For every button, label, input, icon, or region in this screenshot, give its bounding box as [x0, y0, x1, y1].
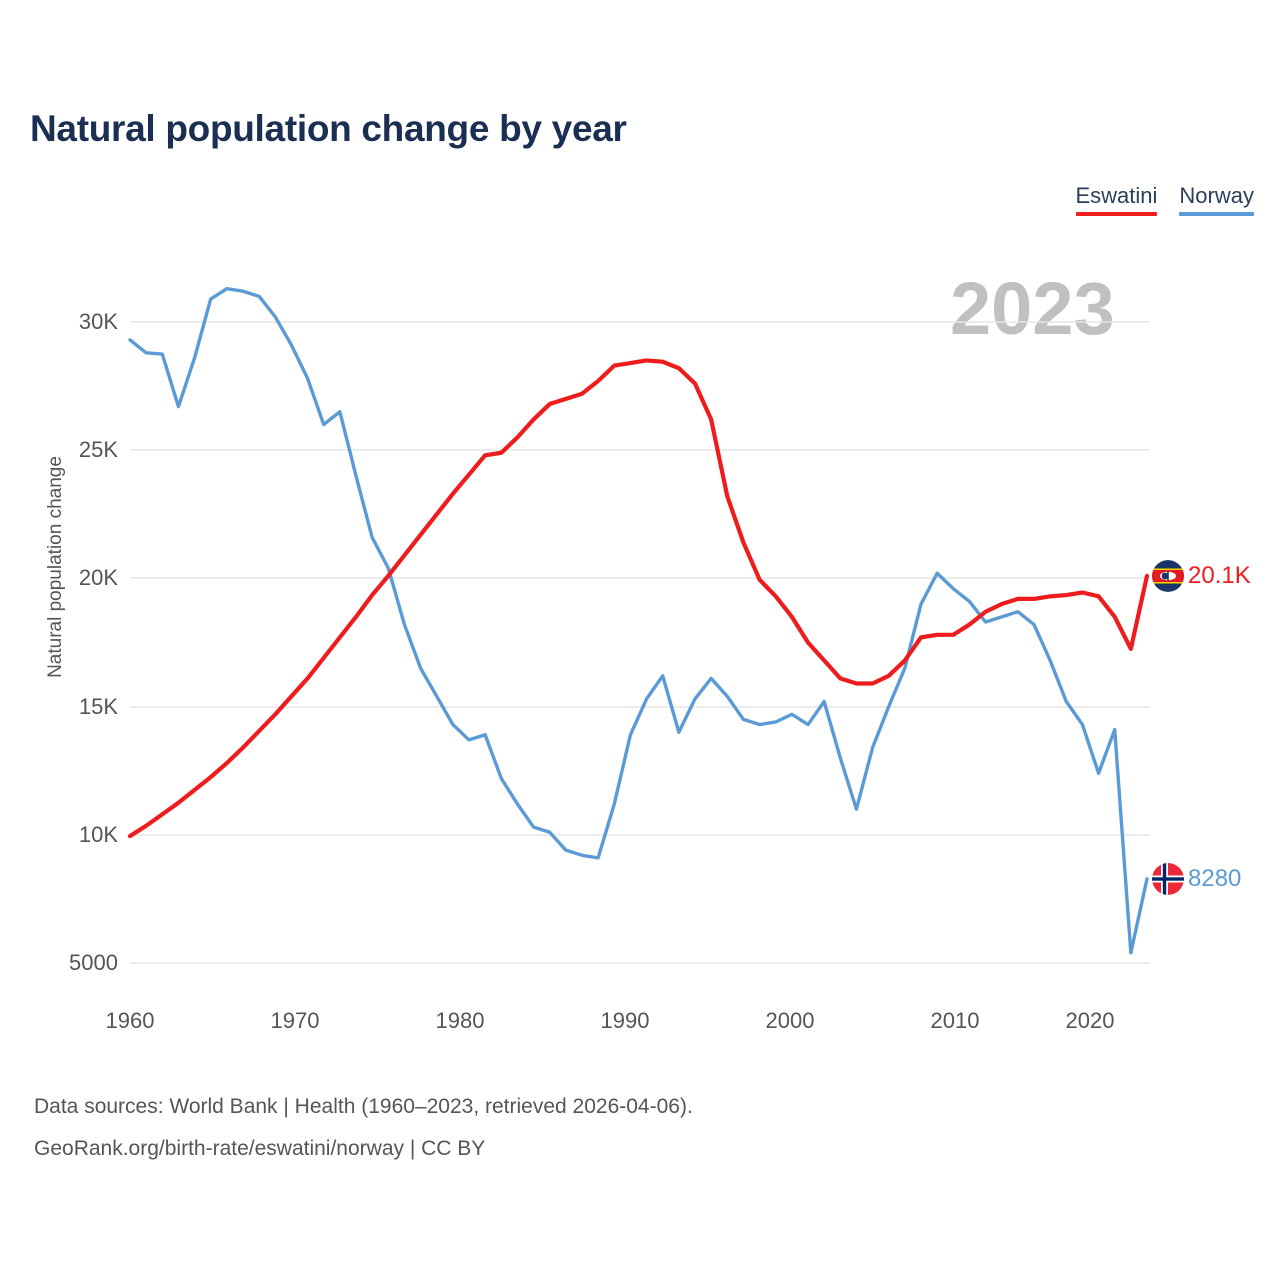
- series-line-norway: [130, 289, 1147, 953]
- eswatini-flag-icon: [1152, 560, 1184, 592]
- eswatini-endpoint[interactable]: 20.1K: [1152, 560, 1251, 592]
- footer-attribution: Data sources: World Bank | Health (1960–…: [34, 1086, 693, 1170]
- norway-endpoint[interactable]: 8280: [1152, 863, 1241, 895]
- series-line-eswatini: [130, 360, 1147, 836]
- gridlines: [130, 322, 1150, 963]
- eswatini-endpoint-value: 20.1K: [1188, 562, 1251, 590]
- footer-line-2: GeoRank.org/birth-rate/eswatini/norway |…: [34, 1128, 693, 1170]
- norway-flag-icon: [1152, 863, 1184, 895]
- norway-endpoint-value: 8280: [1188, 865, 1241, 893]
- footer-line-1: Data sources: World Bank | Health (1960–…: [34, 1086, 693, 1128]
- chart-container: Natural population change by year Eswati…: [0, 0, 1280, 1280]
